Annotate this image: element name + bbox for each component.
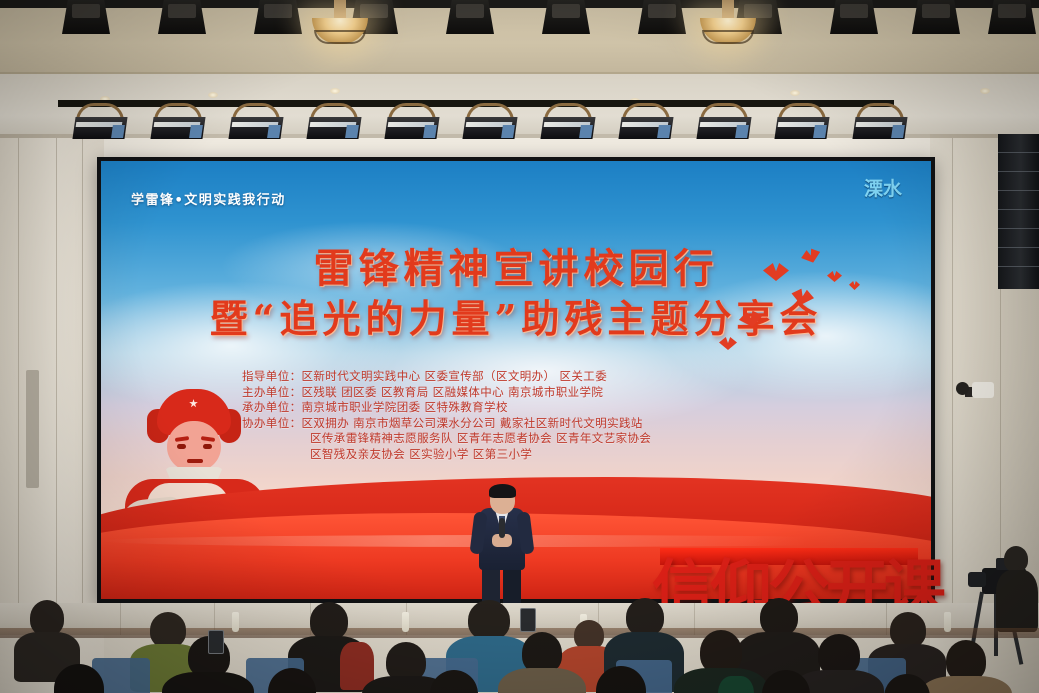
ceiling-spot-light	[638, 0, 686, 34]
audience-head	[626, 598, 664, 636]
organizer-line: 区传承雷锋精神志愿服务队 区青年志愿者协会 区青年文艺家协会	[242, 431, 862, 447]
ceiling-spot-light	[912, 0, 960, 34]
ceiling-upper-surface	[0, 0, 1039, 72]
stage-lamp	[72, 103, 128, 139]
wall-panel-seam	[82, 138, 83, 603]
audience-head	[30, 600, 64, 636]
logo-primary-text: 溧水	[864, 178, 902, 200]
ceiling-spot-light	[254, 0, 302, 34]
ceiling-spot-light	[542, 0, 590, 34]
organizer-line: 协办单位：区双拥办 南京市烟草公司溧水分公司 戴家社区新时代文明实践站	[242, 416, 862, 432]
stage-lamp	[462, 103, 518, 139]
stage-lamp	[384, 103, 440, 139]
audience-body	[498, 668, 586, 693]
audience-head	[468, 600, 510, 640]
cctv-camera-icon	[972, 382, 994, 398]
screen-title-sub: 暨“追光的力量”助残主题分享会	[101, 295, 931, 343]
ceiling-downlight	[790, 90, 800, 96]
pendant-chandelier	[312, 0, 368, 52]
audience-area	[0, 560, 1039, 693]
organizer-line: 承办单位：南京城市职业学院团委 区特殊教育学校	[242, 400, 862, 416]
pendant-chandelier	[700, 0, 756, 52]
ceiling-spot-light	[158, 0, 206, 34]
audience-head	[760, 598, 798, 636]
cctv-lens-icon	[956, 382, 969, 395]
organizer-line: 主办单位：区残联 团区委 区教育局 区融媒体中心 南京城市职业学院	[242, 385, 862, 401]
line-array-speaker	[998, 134, 1039, 289]
stage-lamp	[306, 103, 362, 139]
stage-lamp	[852, 103, 908, 139]
organizer-list: 指导单位：区新时代文明实践中心 区委宣传部（区文明办） 区关工委 主办单位：区残…	[242, 369, 862, 463]
stage-lamp	[150, 103, 206, 139]
water-bottle	[232, 612, 239, 632]
liushui-logo: 溧水	[861, 179, 905, 223]
water-bottle	[944, 612, 951, 632]
audience-body	[920, 676, 1012, 693]
organizer-value: 区新时代文明实践中心 区委宣传部（区文明办） 区关工委	[302, 369, 608, 383]
wall-panel-seam	[56, 138, 57, 603]
ceiling-downlight	[208, 92, 218, 98]
audience-head	[890, 612, 926, 648]
chandelier-ring	[702, 30, 754, 44]
organizer-value: 区残联 团区委 区教育局 区融媒体中心 南京城市职业学院	[302, 385, 604, 399]
audience-head	[150, 612, 186, 648]
ceiling-spot-light	[830, 0, 878, 34]
ceiling-truss-bar	[0, 0, 1039, 8]
wall-vent-slot	[26, 370, 39, 488]
organizer-line: 区智残及亲友协会 区实验小学 区第三小学	[242, 447, 862, 463]
ceiling-spot-light	[62, 0, 110, 34]
organizer-label: 指导单位：	[242, 369, 302, 383]
organizer-value: 南京城市职业学院团委 区特殊教育学校	[302, 400, 508, 414]
stage-lamp	[618, 103, 674, 139]
stage-lamp	[228, 103, 284, 139]
organizer-line: 指导单位：区新时代文明实践中心 区委宣传部（区文明办） 区关工委	[242, 369, 862, 385]
ceiling-spot-light	[988, 0, 1036, 34]
ceiling-downlight	[980, 88, 990, 94]
auditorium-scene: 学雷锋•文明实践我行动 溧水 雷锋精神宣讲校园行 暨“追光的力量”助残主题分享会…	[0, 0, 1039, 693]
water-bottle	[402, 612, 409, 632]
audience-body	[162, 672, 254, 693]
stage-lamp	[540, 103, 596, 139]
stage-lamp	[774, 103, 830, 139]
raised-phone	[520, 608, 536, 632]
wall-panel-seam	[18, 138, 19, 603]
chandelier-ring	[314, 30, 366, 44]
raised-phone	[208, 630, 224, 654]
organizer-value: 区智残及亲友协会 区实验小学 区第三小学	[310, 447, 532, 461]
ceiling-downlight	[330, 88, 340, 94]
microphone-icon	[499, 518, 505, 538]
ceiling-spot-light	[446, 0, 494, 34]
organizer-value: 区传承雷锋精神志愿服务队 区青年志愿者协会 区青年文艺家协会	[310, 431, 651, 445]
stage-lamp	[696, 103, 752, 139]
audience-head	[310, 602, 348, 640]
organizer-value: 区双拥办 南京市烟草公司溧水分公司 戴家社区新时代文明实践站	[302, 416, 643, 430]
screen-tagline: 学雷锋•文明实践我行动	[131, 189, 286, 208]
audience-body-accent	[718, 676, 754, 693]
wall-panel-seam	[952, 138, 953, 603]
